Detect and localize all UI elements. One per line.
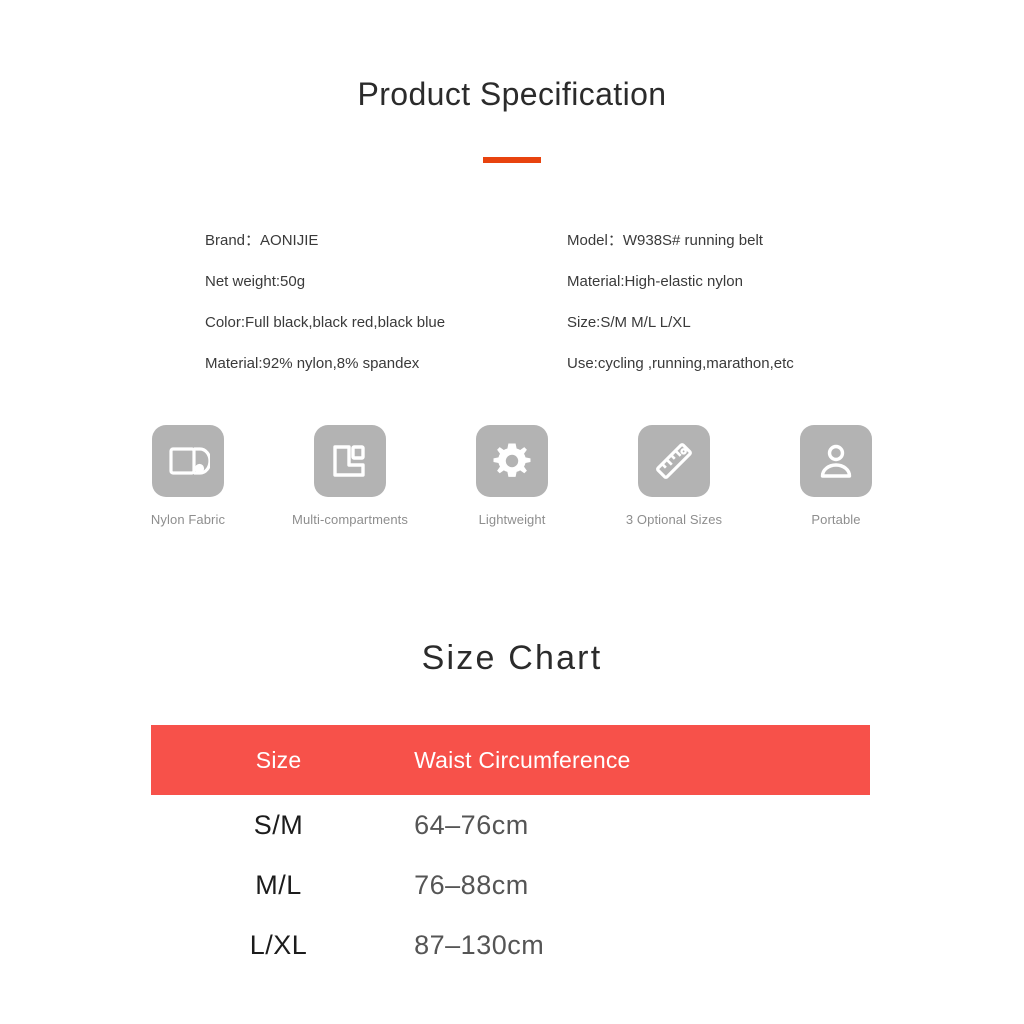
fabric-roll-icon [166,439,210,483]
spec-size: Size:S/M M/L L/XL [567,314,691,332]
cell-size: S/M [151,810,406,841]
feature-tile [314,425,386,497]
title-accent-rule [483,157,541,163]
feature-label: Multi-compartments [292,512,408,527]
size-chart-table: Size Waist Circumference S/M 64–76cm M/L… [151,725,870,975]
spec-row: Net weight:50g Material:High-elastic nyl… [0,273,1024,314]
cell-waist: 87–130cm [406,930,870,961]
feature-tile [476,425,548,497]
feature-item-lightweight: Lightweight [452,425,572,527]
table-row: S/M 64–76cm [151,795,870,855]
cell-waist: 64–76cm [406,810,870,841]
feature-tile [638,425,710,497]
feature-item-multi-compartments: Multi-compartments [290,425,410,527]
spec-material-type: Material:High-elastic nylon [567,273,743,291]
feature-label: Lightweight [479,512,546,527]
spec-model: Model：W938S# running belt [567,232,763,250]
feature-label: Nylon Fabric [151,512,225,527]
ruler-icon [651,438,697,484]
specification-details: Brand：AONIJIE Model：W938S# running belt … [0,232,1024,396]
feature-tile [800,425,872,497]
spec-color: Color:Full black,black red,black blue [205,314,445,332]
table-row: L/XL 87–130cm [151,915,870,975]
size-chart-title: Size Chart [0,639,1024,678]
feature-item-nylon-fabric: Nylon Fabric [128,425,248,527]
spec-use: Use:cycling ,running,marathon,etc [567,355,794,373]
compartments-icon [328,439,372,483]
person-icon [814,439,858,483]
page-title: Product Specification [0,76,1024,113]
cell-size: M/L [151,870,406,901]
feature-tile [152,425,224,497]
spec-net-weight: Net weight:50g [205,273,305,291]
column-header-size: Size [151,747,406,774]
feature-item-optional-sizes: 3 Optional Sizes [614,425,734,527]
gear-icon [490,439,534,483]
feature-list: Nylon Fabric Multi-compartments Lightwei… [0,425,1024,527]
feature-label: Portable [811,512,860,527]
cell-size: L/XL [151,930,406,961]
spec-material-composition: Material:92% nylon,8% spandex [205,355,419,373]
feature-item-portable: Portable [776,425,896,527]
table-row: M/L 76–88cm [151,855,870,915]
cell-waist: 76–88cm [406,870,870,901]
spec-row: Color:Full black,black red,black blue Si… [0,314,1024,355]
feature-label: 3 Optional Sizes [626,512,722,527]
column-header-waist-circumference: Waist Circumference [406,747,870,774]
table-header-row: Size Waist Circumference [151,725,870,795]
spec-row: Brand：AONIJIE Model：W938S# running belt [0,232,1024,273]
spec-row: Material:92% nylon,8% spandex Use:cyclin… [0,355,1024,396]
spec-brand: Brand：AONIJIE [205,232,318,250]
